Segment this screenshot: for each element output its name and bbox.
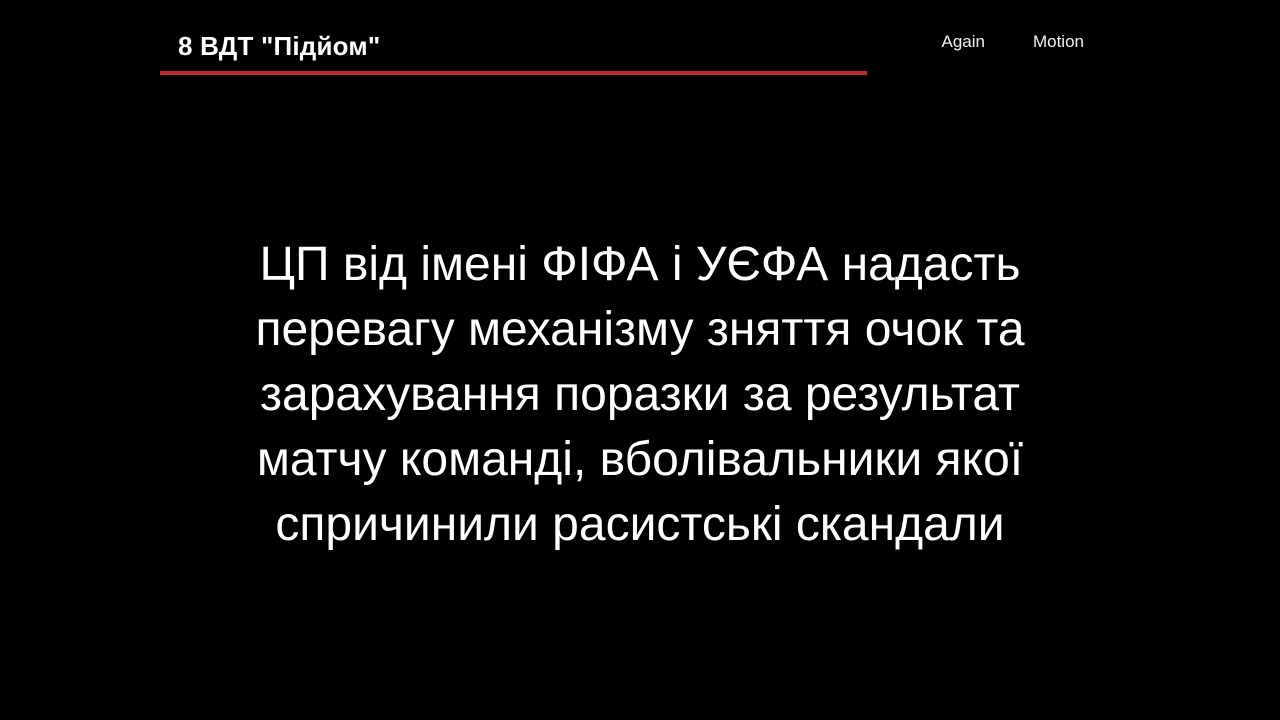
body-text-line: спричинили расистські скандали bbox=[0, 492, 1280, 557]
body-text-line: матчу команді, вболівальники якої bbox=[0, 427, 1280, 492]
nav-item-again[interactable]: Again bbox=[941, 32, 984, 52]
body-text-line: зарахування поразки за результат bbox=[0, 362, 1280, 427]
page-title: 8 ВДТ "Підйом" bbox=[178, 32, 380, 62]
body-text-line: перевагу механізму зняття очок та bbox=[0, 297, 1280, 362]
body-text-line: ЦП від імені ФІФА і УЄФА надасть bbox=[0, 232, 1280, 297]
top-navigation: Again Motion bbox=[941, 32, 1280, 52]
title-underline-rule bbox=[160, 71, 867, 75]
presentation-slide: 8 ВДТ "Підйом" Again Motion ЦП від імені… bbox=[0, 0, 1280, 720]
slide-body-text: ЦП від імені ФІФА і УЄФА надасть переваг… bbox=[0, 232, 1280, 557]
nav-item-motion[interactable]: Motion bbox=[1033, 32, 1084, 52]
